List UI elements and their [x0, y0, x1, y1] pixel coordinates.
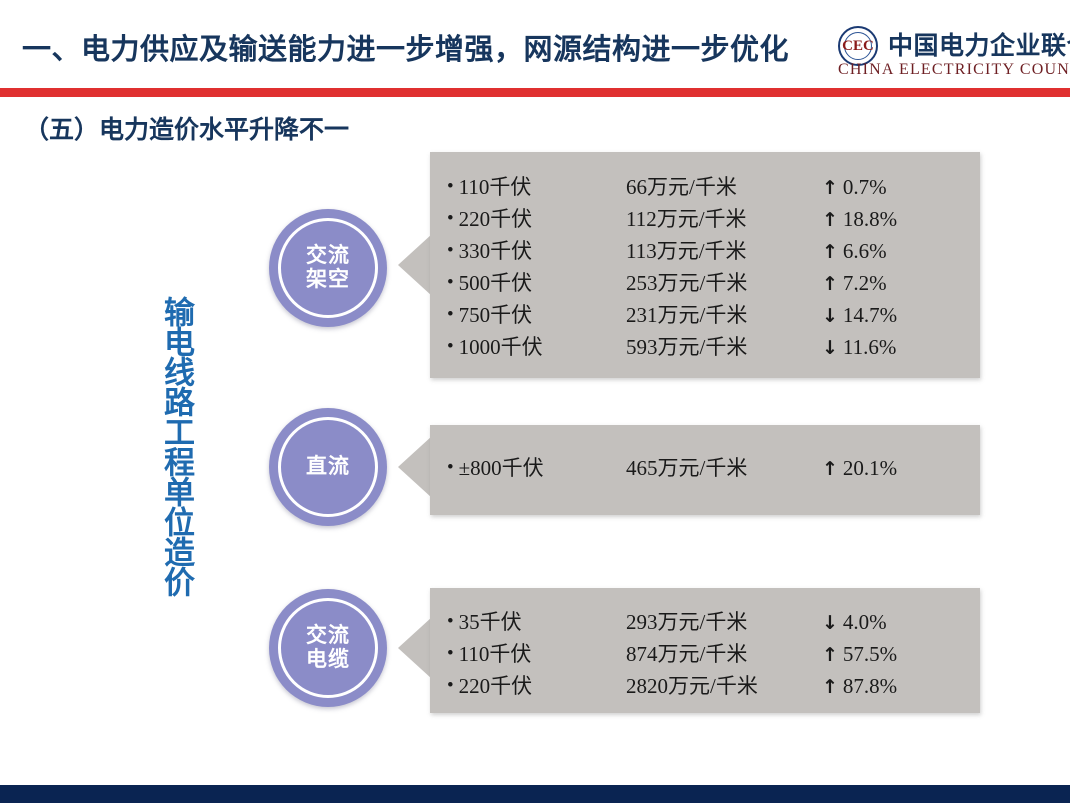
cell-change: ↑0.7%: [822, 175, 980, 200]
cell-change: ↑6.6%: [822, 239, 980, 264]
badge-label-line1: 交流: [306, 624, 350, 648]
cell-change: ↓14.7%: [822, 303, 980, 328]
change-value: 4.0%: [843, 610, 887, 634]
table-row: •35千伏 293万元/千米 ↓4.0%: [430, 606, 980, 638]
trend-arrow-icon: ↑: [822, 177, 838, 199]
cell-cost: 66万元/千米: [626, 171, 822, 201]
voltage-value: 1000千伏: [459, 335, 543, 359]
trend-arrow-icon: ↓: [822, 305, 838, 327]
change-value: 6.6%: [843, 239, 887, 263]
trend-arrow-icon: ↑: [822, 458, 838, 480]
cell-cost: 113万元/千米: [626, 235, 822, 265]
bullet-icon: •: [447, 305, 454, 324]
cell-cost: 253万元/千米: [626, 267, 822, 297]
bullet-icon: •: [447, 676, 454, 695]
trend-arrow-icon: ↑: [822, 644, 838, 666]
voltage-value: 220千伏: [459, 674, 533, 698]
voltage-value: 35千伏: [459, 610, 522, 634]
cell-voltage: •±800千伏: [430, 452, 626, 482]
table-row: •750千伏 231万元/千米 ↓14.7%: [430, 299, 980, 331]
cell-voltage: •1000千伏: [430, 331, 626, 361]
vertical-category-label: 输电线路工程单位造价: [149, 296, 191, 596]
cell-change: ↑57.5%: [822, 642, 980, 667]
trend-arrow-icon: ↑: [822, 209, 838, 231]
footer-bar: [0, 785, 1070, 803]
cell-cost: 465万元/千米: [626, 452, 822, 482]
data-rows: •35千伏 293万元/千米 ↓4.0% •110千伏 874万元/千米 ↑57…: [430, 588, 980, 731]
group-badge-ac-cable[interactable]: 交流 电缆: [269, 589, 387, 707]
cell-voltage: •330千伏: [430, 235, 626, 265]
panel-pointer-notch: [398, 436, 432, 498]
voltage-value: 750千伏: [459, 303, 533, 327]
cell-voltage: •110千伏: [430, 171, 626, 201]
cell-voltage: •35千伏: [430, 606, 626, 636]
table-row: •220千伏 112万元/千米 ↑18.8%: [430, 203, 980, 235]
table-row: •220千伏 2820万元/千米 ↑87.8%: [430, 670, 980, 702]
trend-arrow-icon: ↓: [822, 612, 838, 634]
voltage-value: 110千伏: [459, 175, 532, 199]
bullet-icon: •: [447, 209, 454, 228]
badge-label: 交流 架空: [269, 209, 387, 327]
table-row: •110千伏 874万元/千米 ↑57.5%: [430, 638, 980, 670]
badge-label: 交流 电缆: [269, 589, 387, 707]
change-value: 18.8%: [843, 207, 897, 231]
cell-voltage: •750千伏: [430, 299, 626, 329]
group-badge-dc[interactable]: 直流: [269, 408, 387, 526]
badge-label-line2: 架空: [306, 268, 350, 292]
data-panel-dc: •±800千伏 465万元/千米 ↑20.1%: [430, 425, 980, 515]
change-value: 11.6%: [843, 335, 896, 359]
cell-voltage: •110千伏: [430, 638, 626, 668]
cell-change: ↑18.8%: [822, 207, 980, 232]
panel-pointer-notch: [398, 617, 432, 679]
cell-change: ↓11.6%: [822, 335, 980, 360]
cell-voltage: •220千伏: [430, 203, 626, 233]
cell-change: ↑20.1%: [822, 456, 980, 481]
bullet-icon: •: [447, 458, 454, 477]
cell-cost: 231万元/千米: [626, 299, 822, 329]
group-badge-ac-overhead[interactable]: 交流 架空: [269, 209, 387, 327]
logo-english-name: CHINA ELECTRICITY COUNCIL: [838, 61, 1070, 79]
bullet-icon: •: [447, 612, 454, 631]
voltage-value: ±800千伏: [459, 456, 544, 480]
table-row: •110千伏 66万元/千米 ↑0.7%: [430, 171, 980, 203]
bullet-icon: •: [447, 177, 454, 196]
bullet-icon: •: [447, 644, 454, 663]
trend-arrow-icon: ↑: [822, 273, 838, 295]
data-rows: •110千伏 66万元/千米 ↑0.7% •220千伏 112万元/千米 ↑18…: [430, 152, 980, 397]
cell-cost: 593万元/千米: [626, 331, 822, 361]
cell-cost: 293万元/千米: [626, 606, 822, 636]
voltage-value: 500千伏: [459, 271, 533, 295]
change-value: 87.8%: [843, 674, 897, 698]
badge-label-line2: 电缆: [306, 648, 350, 672]
data-panel-ac-overhead: •110千伏 66万元/千米 ↑0.7% •220千伏 112万元/千米 ↑18…: [430, 152, 980, 378]
cell-change: ↓4.0%: [822, 610, 980, 635]
header-divider-rule: [0, 88, 1070, 97]
cell-cost: 2820万元/千米: [626, 670, 822, 700]
data-panel-ac-cable: •35千伏 293万元/千米 ↓4.0% •110千伏 874万元/千米 ↑57…: [430, 588, 980, 713]
data-rows: •±800千伏 465万元/千米 ↑20.1%: [430, 425, 980, 542]
slide-header: 一、电力供应及输送能力进一步增强，网源结构进一步优化 CEC 中国电力企业联合会…: [0, 0, 1070, 88]
logo-chinese-name: 中国电力企业联合会: [888, 26, 1070, 62]
badge-label-line1: 交流: [306, 244, 350, 268]
voltage-value: 110千伏: [459, 642, 532, 666]
change-value: 7.2%: [843, 271, 887, 295]
voltage-value: 330千伏: [459, 239, 533, 263]
page-title: 一、电力供应及输送能力进一步增强，网源结构进一步优化: [22, 26, 789, 68]
trend-arrow-icon: ↓: [822, 337, 838, 359]
seal-monogram: CEC: [840, 28, 876, 64]
trend-arrow-icon: ↑: [822, 241, 838, 263]
change-value: 20.1%: [843, 456, 897, 480]
table-row: •500千伏 253万元/千米 ↑7.2%: [430, 267, 980, 299]
cell-change: ↑7.2%: [822, 271, 980, 296]
badge-label-line1: 直流: [306, 455, 350, 479]
change-value: 0.7%: [843, 175, 887, 199]
table-row: •1000千伏 593万元/千米 ↓11.6%: [430, 331, 980, 363]
badge-label: 直流: [269, 408, 387, 526]
cell-voltage: •500千伏: [430, 267, 626, 297]
bullet-icon: •: [447, 241, 454, 260]
trend-arrow-icon: ↑: [822, 676, 838, 698]
cell-cost: 112万元/千米: [626, 203, 822, 233]
change-value: 57.5%: [843, 642, 897, 666]
organization-logo: CEC 中国电力企业联合会 CHINA ELECTRICITY COUNCIL: [838, 24, 1064, 82]
change-value: 14.7%: [843, 303, 897, 327]
voltage-value: 220千伏: [459, 207, 533, 231]
panel-pointer-notch: [398, 234, 432, 296]
cell-cost: 874万元/千米: [626, 638, 822, 668]
cell-change: ↑87.8%: [822, 674, 980, 699]
bullet-icon: •: [447, 337, 454, 356]
cec-seal-icon: CEC: [838, 26, 878, 66]
section-subtitle: （五）电力造价水平升降不一: [24, 110, 349, 146]
bullet-icon: •: [447, 273, 454, 292]
cell-voltage: •220千伏: [430, 670, 626, 700]
table-row: •±800千伏 465万元/千米 ↑20.1%: [430, 452, 980, 484]
table-row: •330千伏 113万元/千米 ↑6.6%: [430, 235, 980, 267]
